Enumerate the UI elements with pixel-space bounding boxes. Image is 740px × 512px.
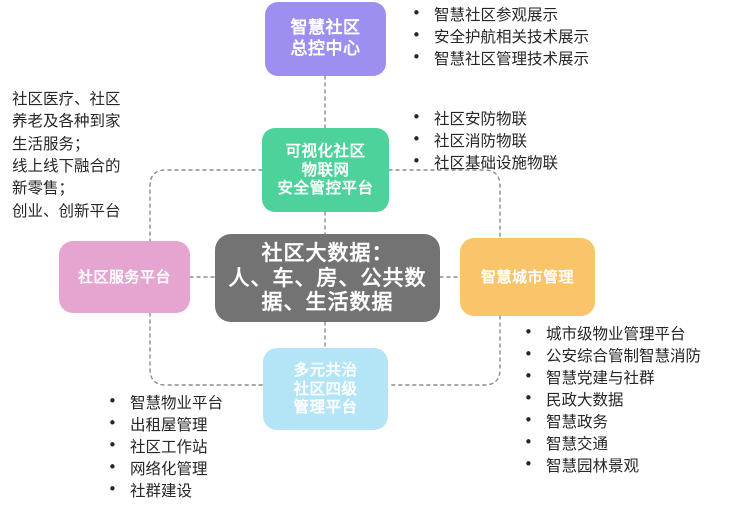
list-item: 城市级物业管理平台 [520, 323, 701, 345]
node-governance-platform-line-1: 多元共治 [293, 361, 357, 380]
node-iot-platform-line-1: 可视化社区 [277, 142, 373, 161]
annotation-service-line: 创业、创新平台 [12, 200, 121, 222]
node-iot-platform-line-2: 物联网 [277, 161, 373, 180]
diagram-canvas: 智慧社区 总控中心 可视化社区 物联网 安全管控平台 社区大数据： 人、车、房、… [0, 0, 740, 512]
node-iot-platform[interactable]: 可视化社区 物联网 安全管控平台 [262, 128, 389, 212]
node-control-center[interactable]: 智慧社区 总控中心 [265, 2, 386, 76]
list-item: 安全护航相关技术展示 [408, 26, 589, 48]
annotation-iot-platform-list: 社区安防物联 社区消防物联 社区基础设施物联 [408, 108, 558, 174]
node-city-management[interactable]: 智慧城市管理 [460, 238, 595, 316]
node-big-data[interactable]: 社区大数据： 人、车、房、公共数 据、生活数据 [215, 234, 440, 322]
wire-ring-top-right [389, 170, 500, 238]
list-item: 公安综合管制智慧消防 [520, 345, 701, 367]
wire-ring-top-left [150, 170, 262, 241]
node-service-platform[interactable]: 社区服务平台 [59, 241, 190, 313]
annotation-governance-platform: 智慧物业平台 出租屋管理 社区工作站 网络化管理 社群建设 [104, 392, 223, 502]
list-item: 民政大数据 [520, 389, 701, 411]
list-item: 社区安防物联 [408, 108, 558, 130]
node-control-center-line-2: 总控中心 [291, 39, 361, 60]
list-item: 智慧物业平台 [104, 392, 223, 414]
node-city-management-label: 智慧城市管理 [481, 268, 574, 286]
annotation-city-management: 城市级物业管理平台 公安综合管制智慧消防 智慧党建与社群 民政大数据 智慧政务 … [520, 323, 701, 477]
annotation-governance-platform-list: 智慧物业平台 出租屋管理 社区工作站 网络化管理 社群建设 [104, 392, 223, 502]
node-service-platform-label: 社区服务平台 [78, 268, 171, 286]
annotation-control-center: 智慧社区参观展示 安全护航相关技术展示 智慧社区管理技术展示 [408, 4, 589, 70]
list-item: 社区消防物联 [408, 130, 558, 152]
node-big-data-line-3: 据、生活数据 [229, 290, 427, 315]
annotation-service-platform: 社区医疗、社区 养老及各种到家 生活服务； 线上线下融合的 新零售； 创业、创新… [12, 88, 121, 222]
annotation-city-management-list: 城市级物业管理平台 公安综合管制智慧消防 智慧党建与社群 民政大数据 智慧政务 … [520, 323, 701, 477]
list-item: 社区基础设施物联 [408, 152, 558, 174]
list-item: 网络化管理 [104, 458, 223, 480]
list-item: 智慧交通 [520, 433, 701, 455]
node-big-data-line-2: 人、车、房、公共数 [229, 266, 427, 291]
node-governance-platform-line-3: 管理平台 [293, 398, 357, 417]
wire-ring-bottom-left [150, 313, 263, 385]
annotation-service-line: 生活服务； [12, 133, 121, 155]
list-item: 智慧党建与社群 [520, 367, 701, 389]
wire-ring-bottom-right [388, 316, 500, 385]
list-item: 社区工作站 [104, 436, 223, 458]
annotation-service-line: 新零售； [12, 177, 121, 199]
annotation-service-line: 养老及各种到家 [12, 110, 121, 132]
node-iot-platform-line-3: 安全管控平台 [277, 179, 373, 198]
node-control-center-line-1: 智慧社区 [291, 18, 361, 39]
node-governance-platform[interactable]: 多元共治 社区四级 管理平台 [263, 348, 388, 430]
list-item: 社群建设 [104, 480, 223, 502]
annotation-control-center-list: 智慧社区参观展示 安全护航相关技术展示 智慧社区管理技术展示 [408, 4, 589, 70]
annotation-service-line: 线上线下融合的 [12, 155, 121, 177]
list-item: 智慧社区管理技术展示 [408, 48, 589, 70]
list-item: 智慧社区参观展示 [408, 4, 589, 26]
annotation-iot-platform: 社区安防物联 社区消防物联 社区基础设施物联 [408, 108, 558, 174]
list-item: 出租屋管理 [104, 414, 223, 436]
node-governance-platform-line-2: 社区四级 [293, 380, 357, 399]
annotation-service-line: 社区医疗、社区 [12, 88, 121, 110]
list-item: 智慧政务 [520, 411, 701, 433]
node-big-data-line-1: 社区大数据： [229, 241, 427, 266]
list-item: 智慧园林景观 [520, 455, 701, 477]
